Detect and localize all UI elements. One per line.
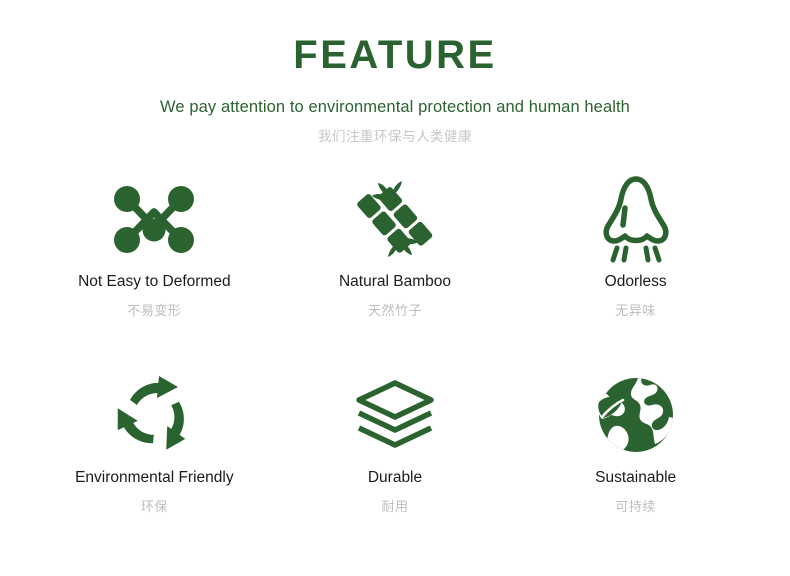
nose-smell-icon xyxy=(598,167,674,271)
feature-item-not-easy-to-deformed: Not Easy to Deformed 不易变形 xyxy=(34,167,275,363)
subtitle-chinese: 我们注重环保与人类健康 xyxy=(0,129,790,145)
feature-label-cn: 天然竹子 xyxy=(368,303,422,319)
feature-label-cn: 无异味 xyxy=(615,303,656,319)
subtitle-english: We pay attention to environmental protec… xyxy=(0,98,790,118)
feature-section: FEATURE We pay attention to environmenta… xyxy=(0,0,790,576)
feature-item-natural-bamboo: Natural Bamboo 天然竹子 xyxy=(275,167,516,363)
feature-label-en: Odorless xyxy=(605,273,667,292)
feature-label-en: Environmental Friendly xyxy=(75,469,234,488)
section-header: FEATURE We pay attention to environmenta… xyxy=(0,0,790,145)
feature-label-en: Natural Bamboo xyxy=(339,273,451,292)
feature-label-cn: 耐用 xyxy=(381,499,408,515)
feature-item-odorless: Odorless 无异味 xyxy=(515,167,756,363)
feature-label-en: Not Easy to Deformed xyxy=(78,273,230,292)
bamboo-stalks-icon xyxy=(355,167,435,271)
stacked-layers-icon xyxy=(353,363,437,467)
feature-grid: Not Easy to Deformed 不易变形 xyxy=(0,167,790,559)
recycle-arrows-icon xyxy=(112,363,196,467)
feature-label-en: Sustainable xyxy=(595,469,676,488)
feature-label-en: Durable xyxy=(368,469,422,488)
feature-label-cn: 可持续 xyxy=(615,499,656,515)
page-title: FEATURE xyxy=(0,34,790,76)
feature-item-environmental-friendly: Environmental Friendly 环保 xyxy=(34,363,275,559)
globe-leaf-icon xyxy=(595,363,677,467)
feature-label-cn: 环保 xyxy=(141,499,168,515)
molecule-nodes-icon xyxy=(112,167,196,271)
feature-item-durable: Durable 耐用 xyxy=(275,363,516,559)
feature-item-sustainable: Sustainable 可持续 xyxy=(515,363,756,559)
feature-label-cn: 不易变形 xyxy=(127,303,181,319)
